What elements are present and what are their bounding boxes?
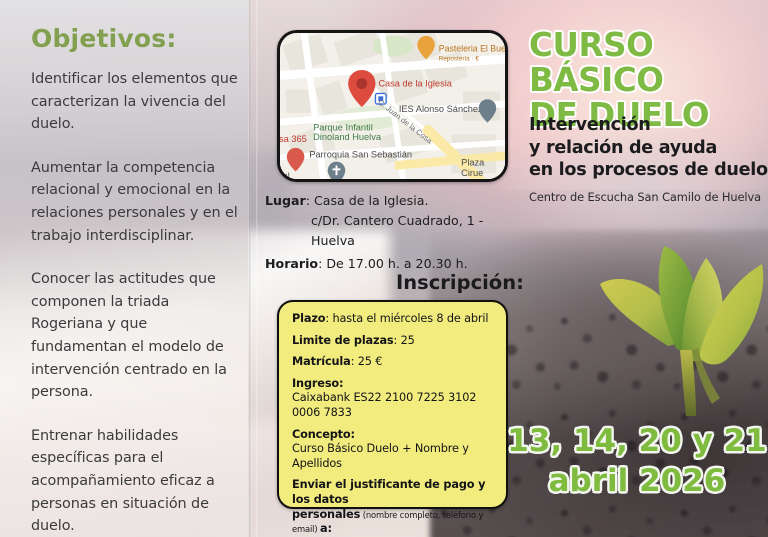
objetivos-list: Identificar los elementos que caracteriz… xyxy=(31,68,243,537)
subhead-line-3: en los procesos de duelo xyxy=(529,160,768,180)
inscripcion-matricula-row: Matrícula: 25 € xyxy=(292,355,494,370)
subhead-line-2: y relación de ayuda xyxy=(529,138,717,158)
organizer-line: Centro de Escucha San Camilo de Huelva xyxy=(529,190,768,204)
inscripcion-plazo-row: Plazo: hasta el miércoles 8 de abril xyxy=(292,312,494,327)
objective-item: Conocer las actitudes que componen la tr… xyxy=(31,268,243,404)
fold-line-right xyxy=(256,0,258,537)
subhead-line-1: Intervención xyxy=(529,115,651,135)
inscripcion-limite-value: : 25 xyxy=(394,334,415,347)
venue-lugar-row: Lugar: Casa de la Iglesia. xyxy=(265,191,515,211)
inscripcion-title: Inscripción: xyxy=(396,271,524,294)
svg-text:Parroquia San Sebastián: Parroquia San Sebastián xyxy=(309,150,412,160)
venue-block: Lugar: Casa de la Iglesia. c/Dr. Cantero… xyxy=(265,191,515,274)
poster-root: Objetivos: Identificar los elementos que… xyxy=(0,0,768,537)
venue-lugar-value: : Casa de la Iglesia. xyxy=(306,193,429,208)
venue-horario-value: : De 17.00 h. a 20.30 h. xyxy=(318,256,468,271)
inscripcion-enviar-bold: personales xyxy=(292,508,360,521)
seedling-icon xyxy=(596,218,768,433)
inscripcion-limite-row: Limite de plazas: 25 xyxy=(292,334,494,349)
dates-line-1: 13, 14, 20 y 21 xyxy=(507,423,767,459)
inscripcion-enviar-a: a: xyxy=(320,522,332,535)
inscripcion-limite-label: Limite de plazas xyxy=(292,334,394,347)
inscripcion-ingreso-label: Ingreso: xyxy=(292,377,343,390)
inscripcion-ingreso-value: Caixabank ES22 2100 7225 3102 0006 7833 xyxy=(292,391,476,419)
map-card[interactable]: Pasteleria El Buen Gu Repostería · € Cas… xyxy=(277,30,508,182)
inscripcion-box: Plazo: hasta el miércoles 8 de abril Lim… xyxy=(277,300,508,509)
objective-item: Identificar los elementos que caracteriz… xyxy=(31,68,243,136)
objetivos-title: Objetivos: xyxy=(31,24,177,53)
svg-text:Parque Infantil: Parque Infantil xyxy=(313,122,373,132)
headline-line-1: CURSO BÁSICO xyxy=(529,26,664,99)
fold-line-left xyxy=(248,0,251,537)
inscripcion-matricula-label: Matrícula xyxy=(292,355,351,368)
course-dates: 13, 14, 20 y 21 abril 2026 xyxy=(506,421,768,501)
svg-text:sa 365: sa 365 xyxy=(280,134,307,144)
venue-horario-label: Horario xyxy=(265,256,318,271)
svg-text:Cirue: Cirue xyxy=(461,168,483,178)
svg-text:Repostería · €: Repostería · € xyxy=(439,55,480,62)
poster-subheadline: Intervención y relación de ayuda en los … xyxy=(529,114,768,182)
inscripcion-plazo-label: Plazo xyxy=(292,312,325,325)
inscripcion-enviar-row: Enviar el justificante de pago y los dat… xyxy=(292,478,494,537)
svg-text:Dinoland Huelva: Dinoland Huelva xyxy=(313,132,382,142)
map-image[interactable]: Pasteleria El Buen Gu Repostería · € Cas… xyxy=(280,33,505,181)
inscripcion-enviar-line1: Enviar el justificante de pago y los dat… xyxy=(292,478,485,506)
inscripcion-matricula-value: : 25 € xyxy=(351,355,383,368)
objective-item: Entrenar habilidades específicas para el… xyxy=(31,425,243,537)
svg-text:IES Alonso Sánchez: IES Alonso Sánchez xyxy=(399,104,483,114)
venue-address: c/Dr. Cantero Cuadrado, 1 - Huelva xyxy=(265,211,515,251)
svg-text:Plaza: Plaza xyxy=(461,157,485,167)
inscripcion-concepto-row: Concepto: Curso Básico Duelo + Nombre y … xyxy=(292,428,494,472)
inscripcion-ingreso-row: Ingreso: Caixabank ES22 2100 7225 3102 0… xyxy=(292,377,494,421)
inscripcion-concepto-label: Concepto: xyxy=(292,428,355,441)
venue-lugar-label: Lugar xyxy=(265,193,306,208)
dates-line-2: abril 2026 xyxy=(506,461,768,501)
inscripcion-plazo-value: : hasta el miércoles 8 de abril xyxy=(325,312,488,325)
inscripcion-concepto-value: Curso Básico Duelo + Nombre y Apellidos xyxy=(292,442,469,470)
objective-item: Aumentar la competencia relacional y emo… xyxy=(31,157,243,247)
svg-text:Casa de la Iglesia: Casa de la Iglesia xyxy=(378,79,452,89)
svg-text:Pasteleria El Buen Gu: Pasteleria El Buen Gu xyxy=(439,44,505,54)
